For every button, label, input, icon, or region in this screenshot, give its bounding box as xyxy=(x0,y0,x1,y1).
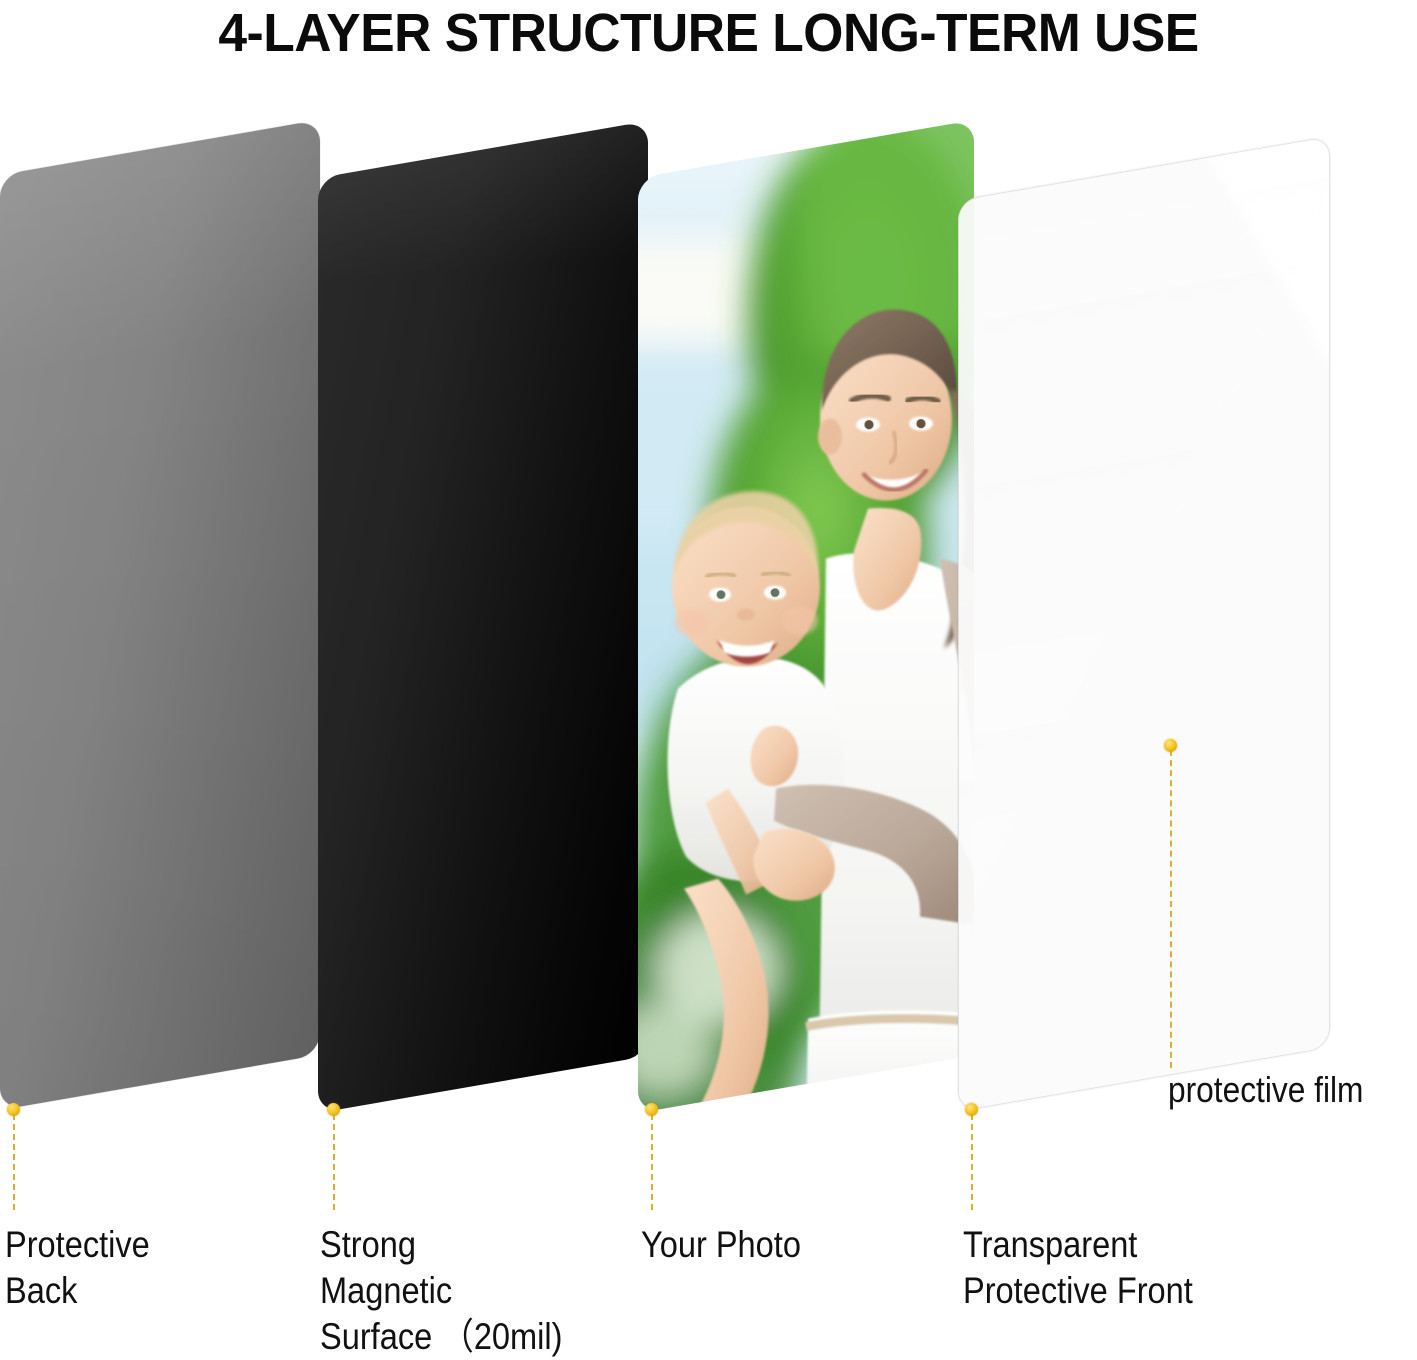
caption-magnetic-surface: Strong Magnetic Surface （20mil) xyxy=(320,1222,562,1360)
callout-line-your-photo xyxy=(651,1114,655,1210)
callout-line-magnetic-surface xyxy=(333,1114,337,1210)
callout-line-transparent-front xyxy=(971,1114,975,1210)
caption-your-photo: Your Photo xyxy=(641,1222,801,1268)
layer-diagram xyxy=(0,0,1417,1350)
caption-protective-back: Protective Back xyxy=(5,1222,150,1314)
caption-protective-film: protective film xyxy=(1168,1068,1363,1112)
panel-transparent-icon xyxy=(958,136,1330,1112)
callout-line-protective-back xyxy=(13,1114,17,1210)
caption-transparent-front: Transparent Protective Front xyxy=(963,1222,1193,1314)
film-edge xyxy=(958,136,1330,1112)
layer-transparent-front xyxy=(0,0,1417,1350)
callout-line-protective-film xyxy=(1170,750,1174,1068)
